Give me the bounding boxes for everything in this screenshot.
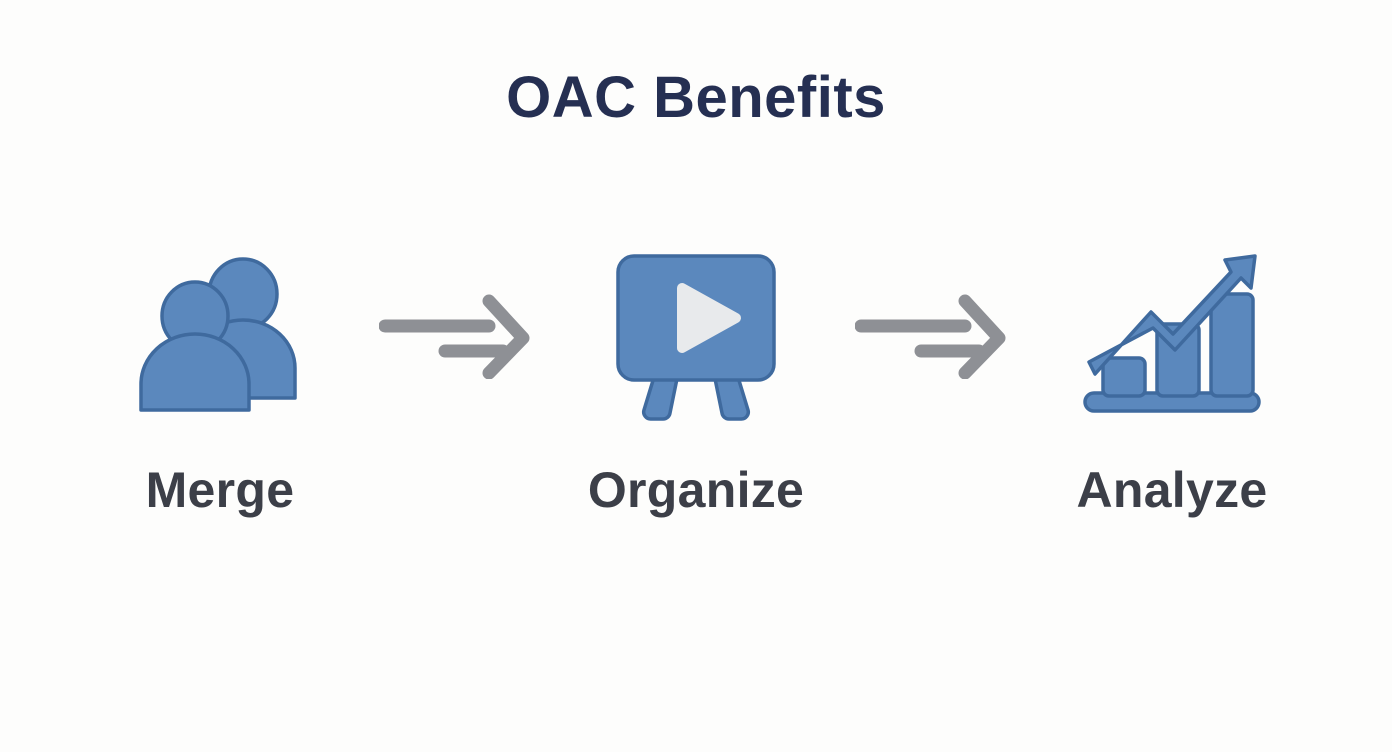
flow-step-analyze[interactable]: Analyze	[1027, 248, 1317, 515]
video-board-play-icon	[601, 248, 791, 423]
flow-step-label-merge: Merge	[146, 465, 295, 515]
flow-step-merge[interactable]: Merge	[75, 248, 365, 515]
users-icon	[125, 248, 315, 423]
arrow-right-icon	[841, 248, 1027, 423]
process-flow: Merge	[0, 248, 1392, 515]
flow-step-organize[interactable]: Organize	[551, 248, 841, 515]
page-title: OAC Benefits	[506, 66, 886, 130]
slide-canvas: OAC Benefits Merge	[0, 0, 1392, 752]
bar-chart-trending-up-icon	[1077, 248, 1267, 423]
arrow-right-icon	[365, 248, 551, 423]
flow-step-label-organize: Organize	[588, 465, 804, 515]
flow-step-label-analyze: Analyze	[1076, 465, 1267, 515]
